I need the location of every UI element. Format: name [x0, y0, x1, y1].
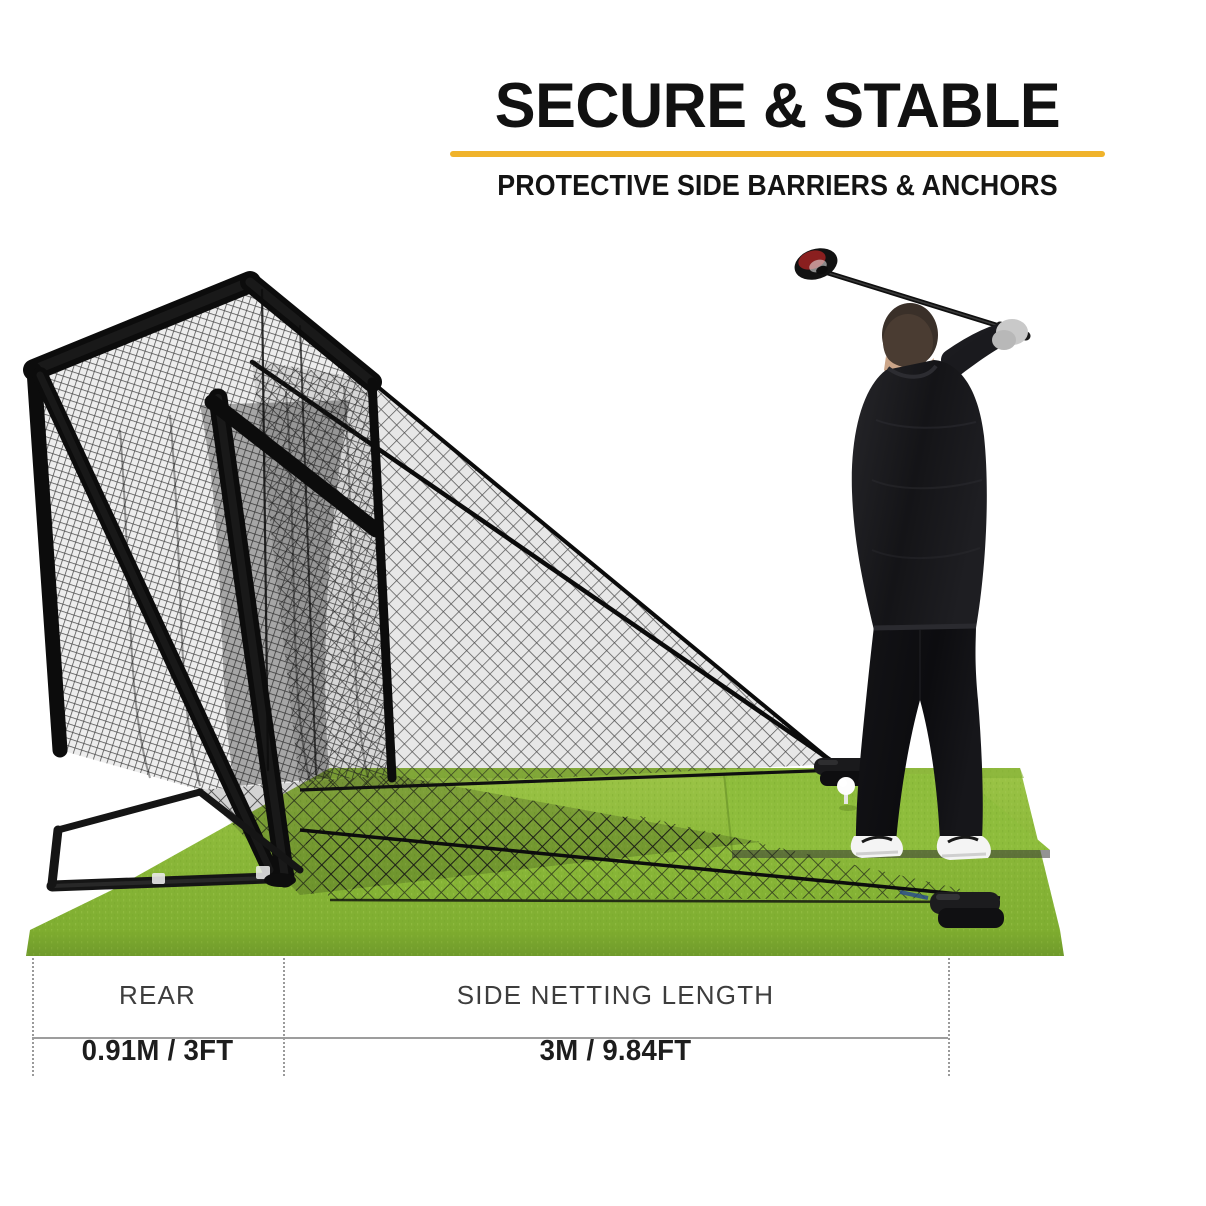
- measure-label-side-netting: SIDE NETTING LENGTH: [283, 980, 948, 1011]
- header-block: SECURE & STABLE PROTECTIVE SIDE BARRIERS…: [450, 72, 1105, 203]
- measure-cell-side-netting: SIDE NETTING LENGTH 3M / 9.84FT: [283, 980, 948, 1068]
- product-scene: [0, 230, 1206, 958]
- golf-ball-on-tee: [0, 230, 1206, 958]
- measurement-bar: REAR 0.91M / 3FT SIDE NETTING LENGTH 3M …: [0, 958, 1206, 1088]
- title-accent-rule: [450, 151, 1105, 157]
- measure-cell-rear: REAR 0.91M / 3FT: [32, 980, 283, 1068]
- page-title: SECURE & STABLE: [460, 72, 1095, 140]
- product-infographic: SECURE & STABLE PROTECTIVE SIDE BARRIERS…: [0, 0, 1206, 1206]
- measure-value-rear: 0.91M / 3FT: [38, 1035, 276, 1068]
- measure-label-rear: REAR: [32, 980, 283, 1011]
- measure-tick-right: [948, 958, 950, 1076]
- measure-value-side-netting: 3M / 9.84FT: [300, 1035, 932, 1068]
- page-subtitle: PROTECTIVE SIDE BARRIERS & ANCHORS: [470, 170, 1086, 203]
